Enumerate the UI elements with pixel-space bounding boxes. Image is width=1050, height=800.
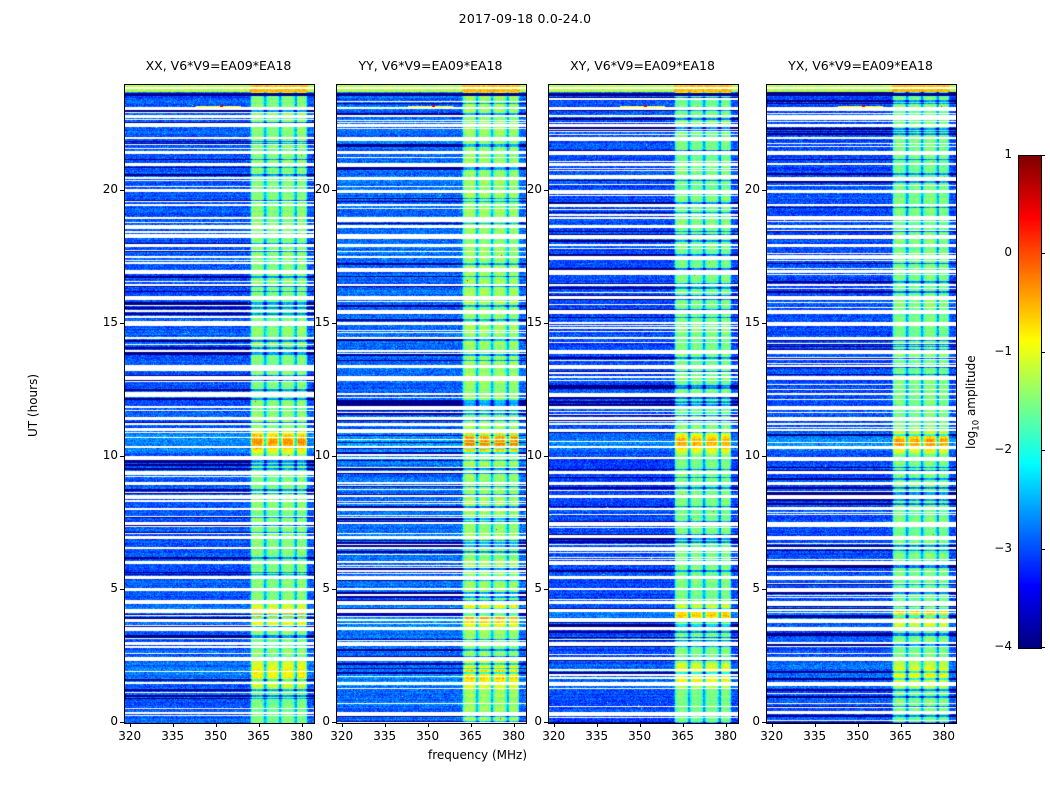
y-tick-label: 15	[290, 315, 330, 329]
y-tickmark	[762, 456, 766, 457]
y-tickmark	[762, 722, 766, 723]
y-tick-label: 0	[290, 714, 330, 728]
y-tickmark	[120, 323, 124, 324]
waterfall-image-xx	[125, 85, 314, 723]
y-tick-label: 10	[78, 448, 118, 462]
y-tickmark	[762, 323, 766, 324]
colorbar-label-sub: 10	[971, 420, 981, 431]
y-tickmark	[120, 589, 124, 590]
y-tickmark	[120, 722, 124, 723]
y-tick-label: 15	[720, 315, 760, 329]
y-tickmark	[332, 722, 336, 723]
x-tick-label: 320	[752, 729, 792, 743]
x-tick-label: 365	[663, 729, 703, 743]
y-tickmark	[544, 456, 548, 457]
y-tick-label: 20	[78, 182, 118, 196]
colorbar-tickmark	[1041, 253, 1045, 254]
x-tick-label: 350	[620, 729, 660, 743]
y-tick-label: 0	[720, 714, 760, 728]
colorbar-label-suffix: amplitude	[964, 355, 978, 419]
waterfall-image-yy	[337, 85, 526, 723]
x-tickmark	[554, 723, 555, 727]
y-tick-label: 5	[78, 581, 118, 595]
y-tick-label: 15	[78, 315, 118, 329]
colorbar-tick-label: 1	[972, 147, 1012, 161]
y-tickmark	[332, 190, 336, 191]
x-tick-label: 380	[494, 729, 534, 743]
y-tick-label: 20	[290, 182, 330, 196]
x-tick-label: 335	[577, 729, 617, 743]
x-tick-label: 380	[706, 729, 746, 743]
y-axis-label: UT (hours)	[26, 374, 40, 437]
y-tickmark	[120, 456, 124, 457]
x-tick-label: 365	[451, 729, 491, 743]
colorbar-tickmark	[1041, 549, 1045, 550]
x-tick-label: 320	[534, 729, 574, 743]
y-tickmark	[120, 190, 124, 191]
subplot-title-xy: XY, V6*V9=EA09*EA18	[548, 58, 737, 73]
x-tickmark	[471, 723, 472, 727]
x-tick-label: 335	[795, 729, 835, 743]
x-tick-label: 365	[881, 729, 921, 743]
figure-canvas: 2017-09-18 0.0-24.0 XX, V6*V9=EA09*EA183…	[0, 0, 1050, 800]
y-tickmark	[332, 456, 336, 457]
waterfall-image-xy	[549, 85, 738, 723]
colorbar-tick-label: 0	[972, 245, 1012, 259]
colorbar	[1018, 155, 1042, 649]
x-tickmark	[901, 723, 902, 727]
subplot-title-yx: YX, V6*V9=EA09*EA18	[766, 58, 955, 73]
colorbar-tickmark	[1041, 155, 1045, 156]
x-tickmark	[173, 723, 174, 727]
subplot-title-xx: XX, V6*V9=EA09*EA18	[124, 58, 313, 73]
y-tickmark	[544, 589, 548, 590]
colorbar-label: log10 amplitude	[964, 355, 981, 449]
y-tickmark	[544, 190, 548, 191]
y-tickmark	[544, 722, 548, 723]
y-tick-label: 0	[78, 714, 118, 728]
x-tickmark	[772, 723, 773, 727]
colorbar-tickmark	[1041, 450, 1045, 451]
x-tick-label: 380	[924, 729, 964, 743]
x-tick-label: 350	[408, 729, 448, 743]
x-tickmark	[385, 723, 386, 727]
colorbar-tickmark	[1041, 647, 1045, 648]
y-tick-label: 0	[502, 714, 542, 728]
y-tick-label: 5	[502, 581, 542, 595]
waterfall-image-yx	[767, 85, 956, 723]
x-tickmark	[597, 723, 598, 727]
x-tickmark	[944, 723, 945, 727]
x-tick-label: 320	[110, 729, 150, 743]
x-tick-label: 335	[153, 729, 193, 743]
x-tickmark	[216, 723, 217, 727]
x-axis-label: frequency (MHz)	[0, 748, 955, 762]
colorbar-tickmark	[1041, 352, 1045, 353]
x-tickmark	[815, 723, 816, 727]
figure-title: 2017-09-18 0.0-24.0	[0, 11, 1050, 26]
x-tickmark	[858, 723, 859, 727]
y-tickmark	[762, 589, 766, 590]
y-tickmark	[332, 323, 336, 324]
x-tickmark	[130, 723, 131, 727]
y-tick-label: 5	[720, 581, 760, 595]
x-tick-label: 365	[239, 729, 279, 743]
y-tick-label: 10	[502, 448, 542, 462]
y-tick-label: 20	[502, 182, 542, 196]
colorbar-gradient	[1019, 156, 1041, 648]
subplot-title-yy: YY, V6*V9=EA09*EA18	[336, 58, 525, 73]
x-tick-label: 335	[365, 729, 405, 743]
y-tick-label: 10	[720, 448, 760, 462]
x-tick-label: 320	[322, 729, 362, 743]
waterfall-axes-yx[interactable]	[766, 84, 957, 724]
y-tickmark	[332, 589, 336, 590]
colorbar-tick-label: −4	[972, 639, 1012, 653]
x-tickmark	[259, 723, 260, 727]
colorbar-tick-label: −3	[972, 541, 1012, 555]
x-tickmark	[428, 723, 429, 727]
y-tick-label: 15	[502, 315, 542, 329]
colorbar-label-prefix: log	[964, 431, 978, 449]
y-tick-label: 5	[290, 581, 330, 595]
y-tick-label: 20	[720, 182, 760, 196]
waterfall-axes-xx[interactable]	[124, 84, 315, 724]
x-tickmark	[640, 723, 641, 727]
x-tick-label: 380	[282, 729, 322, 743]
x-tick-label: 350	[196, 729, 236, 743]
waterfall-axes-yy[interactable]	[336, 84, 527, 724]
x-tick-label: 350	[838, 729, 878, 743]
y-tickmark	[762, 190, 766, 191]
x-tickmark	[683, 723, 684, 727]
x-tickmark	[342, 723, 343, 727]
waterfall-axes-xy[interactable]	[548, 84, 739, 724]
y-tickmark	[544, 323, 548, 324]
y-tick-label: 10	[290, 448, 330, 462]
